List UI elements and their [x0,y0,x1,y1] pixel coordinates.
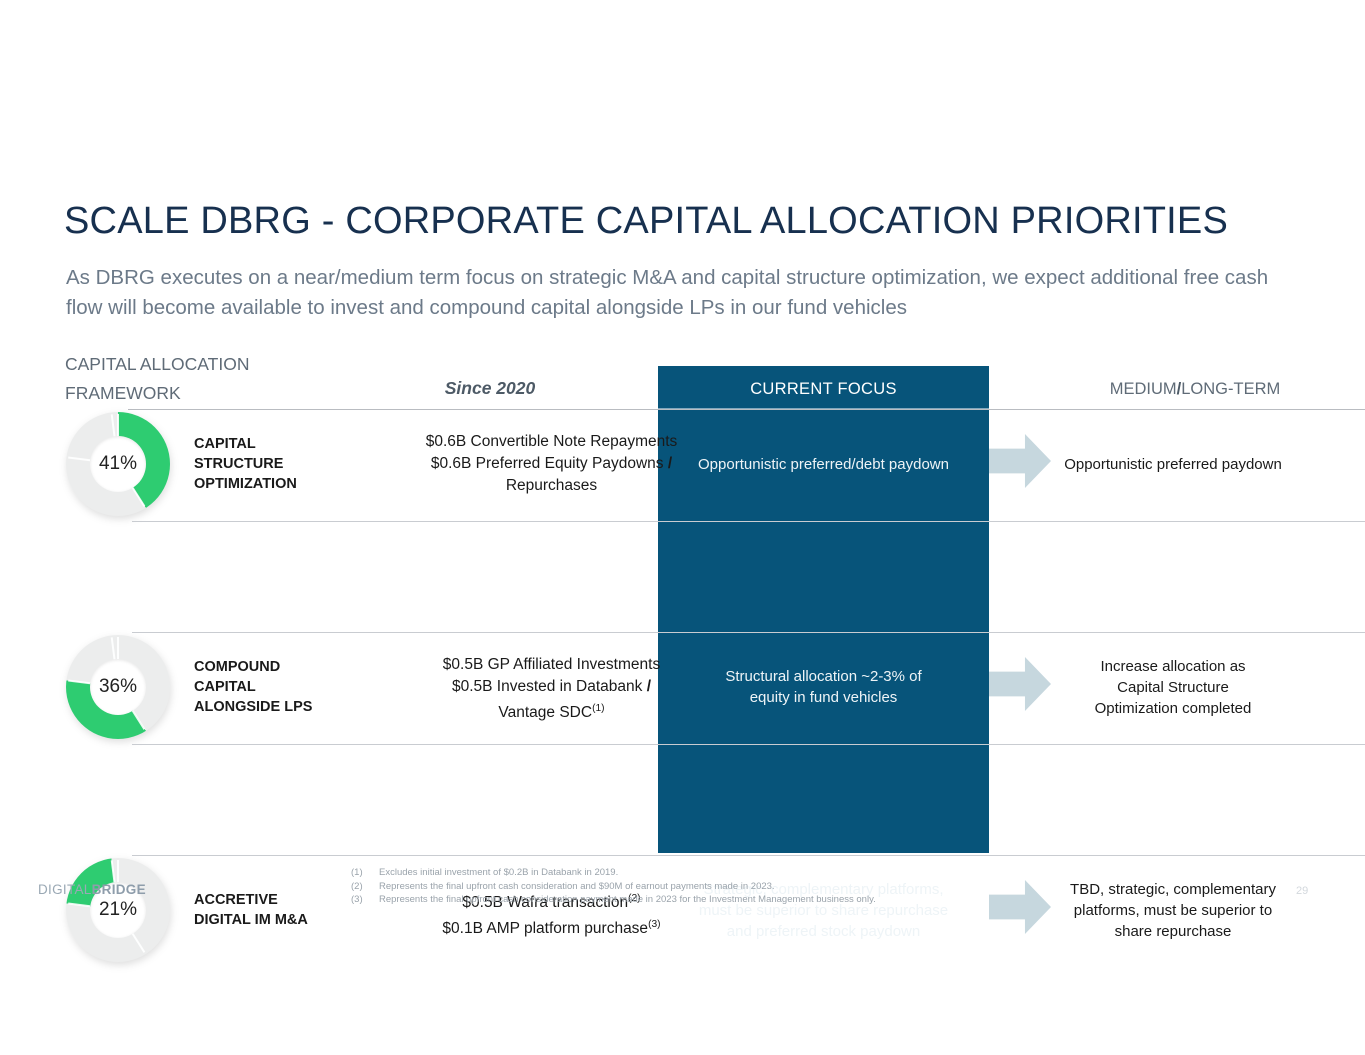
category-label-line: DIGITAL IM M&A [194,910,384,930]
footnote-item: (2)Represents the final upfront cash con… [351,880,1051,894]
footnote-item: (1)Excludes initial investment of $0.2B … [351,866,1051,880]
medium-long-term-cell: Opportunistic preferred paydown [1030,454,1316,475]
footnote-text: Excludes initial investment of $0.2B in … [379,866,618,880]
medium-long-term-line: TBD, strategic, complementary [1030,879,1316,900]
category-label-line: STRUCTURE [194,454,384,474]
footnote-text: Represents the final upfront cash consid… [379,880,775,894]
footnotes: (1)Excludes initial investment of $0.2B … [351,866,1051,907]
page-title: SCALE DBRG - CORPORATE CAPITAL ALLOCATIO… [64,200,1324,243]
framework-header-line1: CAPITAL ALLOCATION [65,350,315,379]
table-row: 36%COMPOUNDCAPITALALONGSIDE LPS$0.5B GP … [64,521,1316,632]
page-subtitle: As DBRG executes on a near/medium term f… [66,263,1296,323]
medium-long-term-line: Opportunistic preferred paydown [1030,454,1316,475]
allocation-rows: 41%CAPITALSTRUCTUREOPTIMIZATION$0.6B Con… [64,409,1316,854]
medium-long-term-cell: TBD, strategic, complementaryplatforms, … [1030,879,1316,942]
footnote-marker: (3) [351,893,379,907]
donut-percent-label: 21% [66,858,170,962]
framework-header-line2: FRAMEWORK [65,379,315,408]
medium-prefix: MEDIUM [1110,380,1177,398]
row-divider [132,855,1365,856]
current-focus-cell: Opportunistic preferred/debt paydown [658,454,989,475]
category-label-line: OPTIMIZATION [194,474,384,494]
logo-light-part: DIGITAL [38,882,92,897]
slide-canvas: SCALE DBRG - CORPORATE CAPITAL ALLOCATIO… [0,0,1365,1055]
page-number: 29 [1296,885,1308,897]
since-2020-line: $0.6B Convertible Note Repayments [384,431,719,453]
column-header-medium-long-term: MEDIUM/LONG-TERM [1030,380,1360,399]
current-focus-line: Opportunistic preferred/debt paydown [658,454,989,475]
framework-header: CAPITAL ALLOCATION FRAMEWORK [65,350,315,408]
footnote-item: (3)Represents the final upfront cash con… [351,893,1051,907]
column-header-since: Since 2020 [330,378,650,399]
table-row: 41%CAPITALSTRUCTUREOPTIMIZATION$0.6B Con… [64,409,1316,520]
since-2020-line: Repurchases [384,475,719,497]
donut-chart: 21% [66,858,170,962]
digitalbridge-logo: DIGITALBRIDGE [38,882,146,897]
footnote-marker: (1) [351,866,379,880]
current-focus-line: and preferred stock paydown [658,921,989,942]
column-header-current-focus: CURRENT FOCUS [658,380,989,399]
donut-chart: 41% [66,412,170,516]
logo-bold-part: BRIDGE [92,882,146,897]
category-label: CAPITALSTRUCTUREOPTIMIZATION [194,434,384,494]
medium-long-term-line: platforms, must be superior to [1030,900,1316,921]
footnote-marker: (2) [351,880,379,894]
table-row: 2%SHAREREPURCHASES &DIVIDENDS$0.1B commo… [64,744,1316,855]
medium-long-term-line: share repurchase [1030,921,1316,942]
table-row: 21%ACCRETIVEDIGITAL IM M&A$0.5B Wafra tr… [64,632,1316,743]
footnote-text: Represents the final upfront cash consid… [379,893,876,907]
medium-suffix: LONG-TERM [1181,380,1280,398]
category-label-line: CAPITAL [194,434,384,454]
donut-percent-label: 41% [66,412,170,516]
